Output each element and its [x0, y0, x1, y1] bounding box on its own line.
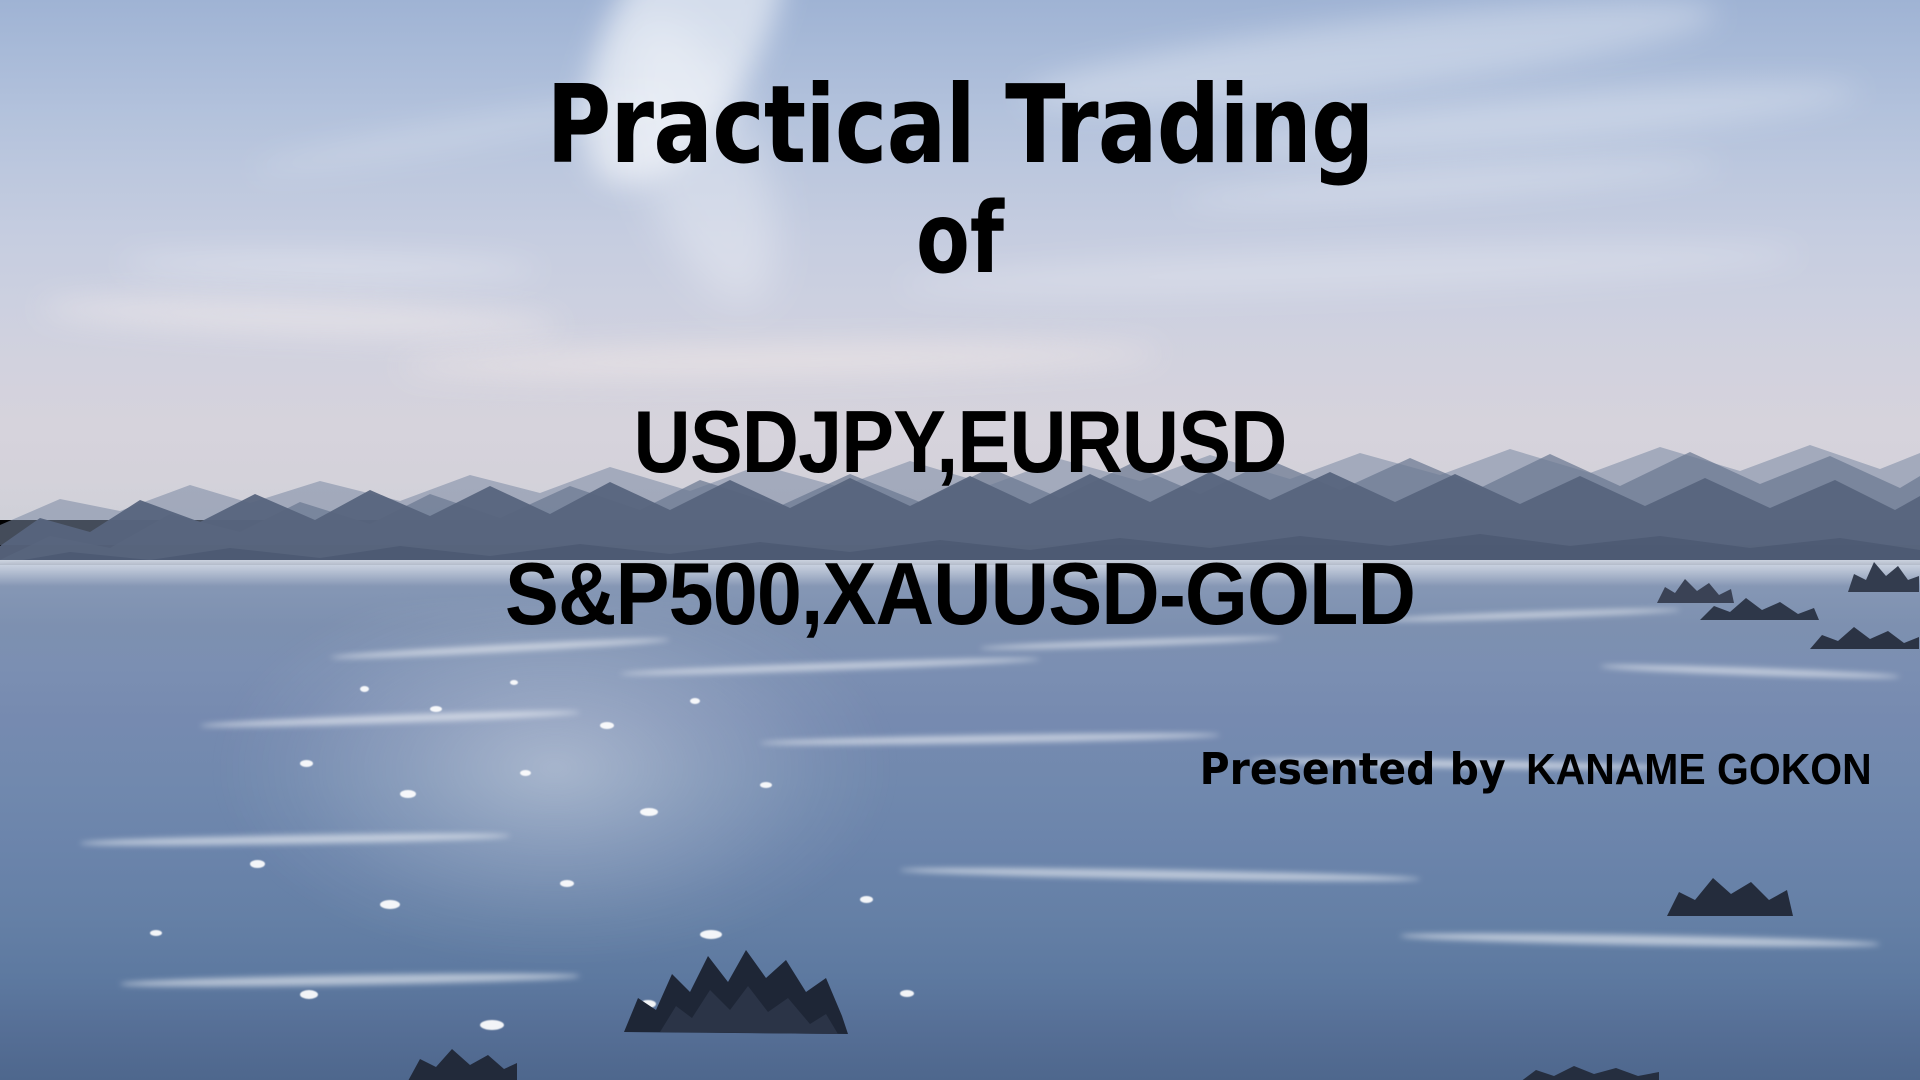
page-title: Practical Trading: [173, 72, 1747, 180]
subject-indices-metals: S&P500,XAUUSD-GOLD: [77, 550, 1843, 638]
title-slide: Practical Trading of USDJPY,EURUSD S&P50…: [0, 0, 1920, 1080]
presenter-name: KANAME GOKON: [1526, 745, 1872, 794]
presenter-prefix: Presented by: [1200, 744, 1506, 795]
title-connector-word: of: [192, 188, 1728, 291]
subject-forex-pairs: USDJPY,EURUSD: [96, 398, 1824, 486]
slide-text-layer: Practical Trading of USDJPY,EURUSD S&P50…: [0, 0, 1920, 1080]
presenter-credit: Presented byKANAME GOKON: [134, 748, 1920, 792]
title-block: Practical Trading of: [0, 72, 1920, 291]
